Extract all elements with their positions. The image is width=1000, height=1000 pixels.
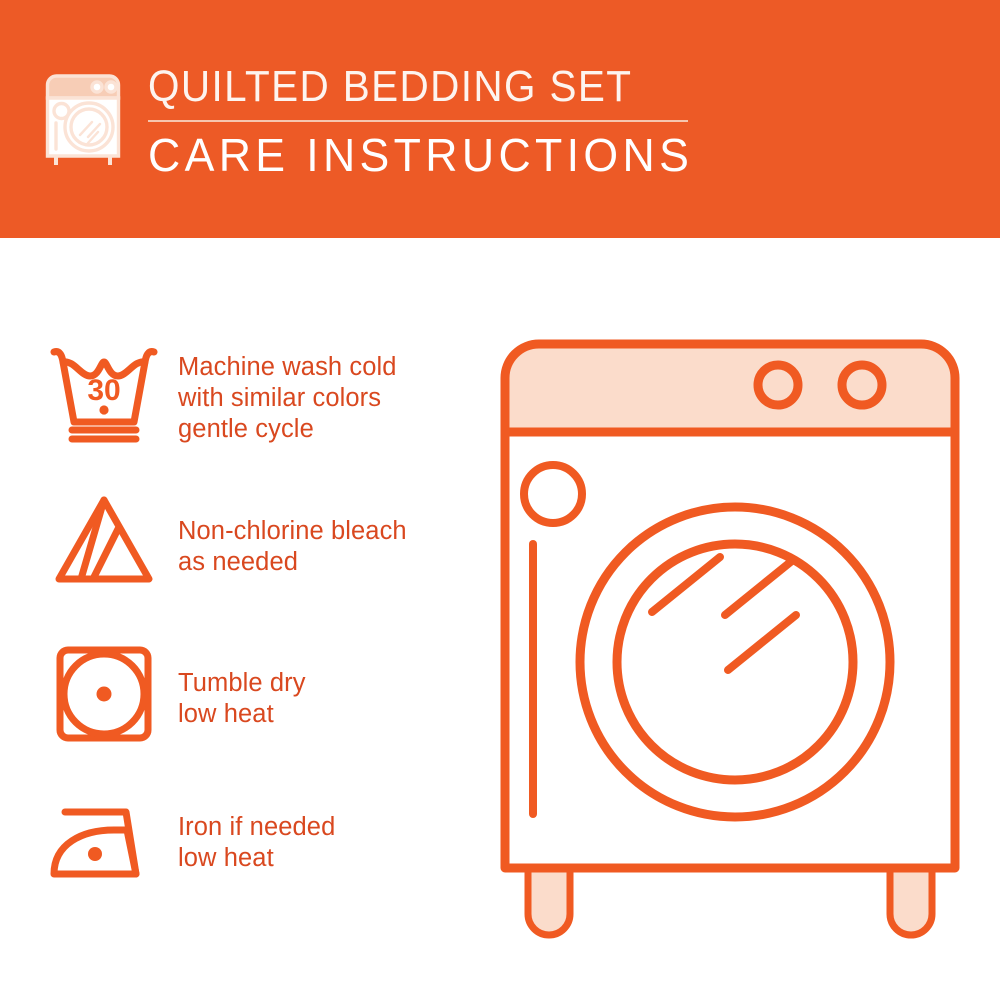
care-item-tumble-dry-label: Tumble dry low heat: [178, 630, 306, 730]
bleach-triangle-icon: [48, 480, 178, 593]
leg-right: [890, 862, 932, 935]
page-title: QUILTED BEDDING SET: [148, 62, 665, 118]
header-band: QUILTED BEDDING SET CARE INSTRUCTIONS: [0, 0, 1000, 238]
care-item-iron-label: Iron if needed low heat: [178, 780, 335, 874]
wash-temperature-label: 30: [87, 374, 120, 407]
knob-left: [758, 365, 798, 405]
care-item-bleach-label: Non-chlorine bleach as needed: [178, 480, 407, 578]
tumble-dry-icon: [48, 630, 178, 743]
care-item-wash-label: Machine wash cold with similar colors ge…: [178, 330, 397, 445]
title-divider: [148, 120, 688, 122]
care-item-wash: 30 Machine wash cold with similar colors…: [48, 330, 478, 480]
wash-tub-icon: 30: [48, 330, 178, 443]
washing-machine-illustration: [480, 322, 980, 952]
page-subtitle: CARE INSTRUCTIONS: [148, 128, 693, 182]
control-panel: [505, 344, 955, 432]
care-item-bleach: Non-chlorine bleach as needed: [48, 480, 478, 630]
knob-right: [842, 365, 882, 405]
leg-left: [528, 862, 570, 935]
washing-machine-icon: [44, 65, 122, 170]
care-item-tumble-dry: Tumble dry low heat: [48, 630, 478, 780]
care-item-iron: Iron if needed low heat: [48, 780, 478, 930]
dispenser-circle: [524, 465, 582, 523]
header-titles: QUILTED BEDDING SET CARE INSTRUCTIONS: [148, 62, 710, 182]
care-instructions-infographic: QUILTED BEDDING SET CARE INSTRUCTIONS 30: [0, 0, 1000, 1000]
header-content: QUILTED BEDDING SET CARE INSTRUCTIONS: [44, 62, 710, 182]
iron-icon: [48, 780, 178, 893]
care-instruction-list: 30 Machine wash cold with similar colors…: [48, 330, 478, 930]
